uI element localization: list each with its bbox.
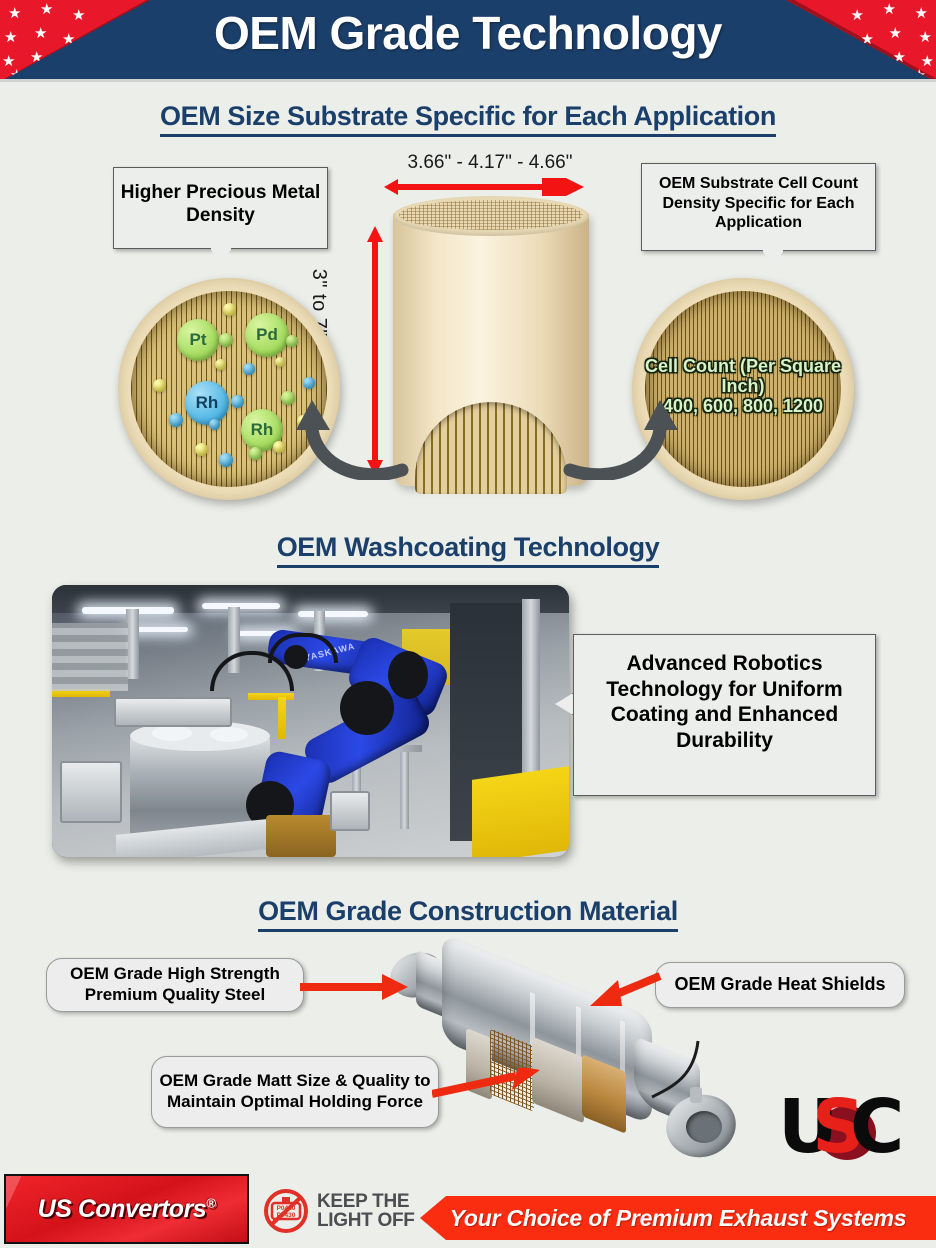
- oxygen-sensor-icon: [650, 1035, 720, 1105]
- metal-particle: [286, 335, 298, 347]
- metal-bubble-pd: Pd: [245, 313, 289, 357]
- metal-particle: [231, 395, 244, 408]
- usc-logo: U S C: [778, 1094, 918, 1162]
- arrow-to-matt-icon: [432, 1068, 542, 1102]
- metal-particle: [275, 357, 285, 367]
- callout-oem-substrate-cell-count: OEM Substrate Cell Count Density Specifi…: [641, 163, 876, 251]
- metal-particle: [209, 419, 220, 430]
- arrow-to-steel-icon: [300, 972, 410, 1002]
- washcoating-robot-photo: YASKAWA: [52, 585, 569, 857]
- us-convertors-brand: US Convertors: [38, 1195, 207, 1223]
- curved-arrow-left-icon: [290, 400, 410, 480]
- metal-particle: [243, 363, 255, 375]
- metal-particle: [153, 379, 166, 392]
- callout-matt-size-quality: OEM Grade Matt Size & Quality to Maintai…: [151, 1056, 439, 1128]
- diameter-arrow-icon: [384, 178, 590, 196]
- keep-the-light-off-badge: P0420 P0430 KEEP THE LIGHT OFF: [262, 1188, 415, 1234]
- metal-particle: [303, 377, 315, 389]
- section-heading-substrate: OEM Size Substrate Specific for Each App…: [0, 101, 936, 132]
- callout-premium-quality-steel: OEM Grade High Strength Premium Quality …: [46, 958, 304, 1012]
- callout-higher-precious-metal-density: Higher Precious Metal Density: [113, 167, 328, 249]
- callout-advanced-robotics: Advanced Robotics Technology for Uniform…: [573, 634, 876, 796]
- keep-light-line-2: LIGHT OFF: [317, 1211, 415, 1230]
- arrow-to-heat-shields-icon: [582, 968, 662, 1010]
- curved-arrow-right-icon: [562, 400, 682, 480]
- metal-bubble-pt: Pt: [177, 319, 219, 361]
- section-heading-construction: OEM Grade Construction Material: [0, 896, 936, 927]
- tagline-banner: Your Choice of Premium Exhaust Systems: [420, 1196, 936, 1240]
- page-footer: US Convertors® P0420 P0430 KEEP THE LIGH…: [0, 1170, 936, 1248]
- section-heading-washcoating: OEM Washcoating Technology: [0, 532, 936, 563]
- metal-particle: [249, 447, 262, 460]
- substrate-cylinder-illustration: [393, 196, 589, 496]
- registered-mark: ®: [206, 1195, 215, 1210]
- tagline-text: Your Choice of Premium Exhaust Systems: [450, 1205, 907, 1232]
- no-check-engine-light-icon: P0420 P0430: [262, 1188, 310, 1234]
- metal-bubble-rh-blue: Rh: [185, 381, 229, 425]
- callout-heat-shields: OEM Grade Heat Shields: [655, 962, 905, 1008]
- metal-particle: [273, 441, 285, 453]
- diameter-label: 3.66" - 4.17" - 4.66": [380, 152, 600, 174]
- metal-particle: [195, 443, 208, 456]
- metal-particle: [223, 303, 236, 316]
- us-convertors-logo: US Convertors®: [4, 1174, 249, 1244]
- page-title: OEM Grade Technology: [0, 6, 936, 60]
- metal-particle: [219, 333, 233, 347]
- keep-light-line-1: KEEP THE: [317, 1192, 415, 1211]
- usc-logo-c: C: [850, 1090, 904, 1164]
- metal-particle: [219, 453, 233, 467]
- metal-particle: [215, 359, 226, 370]
- cell-count-title: Cell Count (Per Square Inch): [632, 356, 854, 396]
- page-header: ★ ★ ★ ★ ★ ★ ★ ★ ★ OEM Grade Technology ★…: [0, 0, 936, 82]
- metal-particle: [169, 413, 183, 427]
